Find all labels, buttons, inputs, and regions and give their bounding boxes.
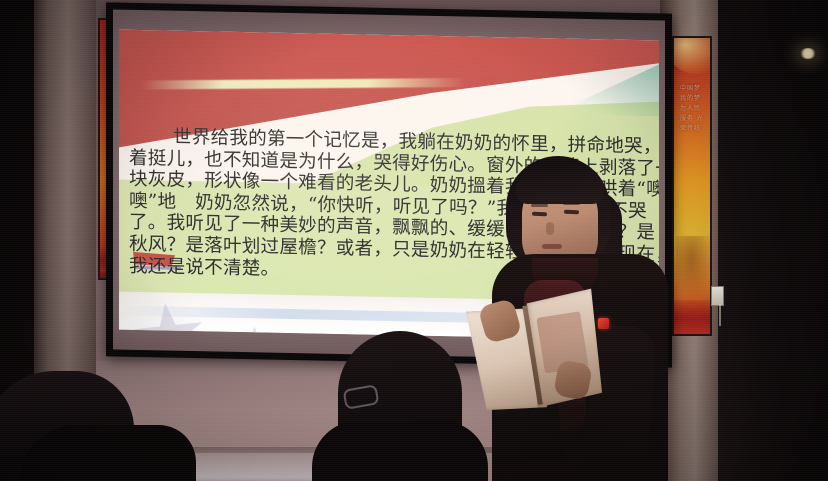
- presenter-eyebrow: [563, 202, 580, 205]
- photo-scene: ☭ 中国梦 我的梦 为人民服务 光荣传统: [0, 0, 828, 481]
- poster-figure-graphic: [676, 236, 710, 298]
- glasses-icon: [343, 384, 380, 410]
- presenter-reading: [470, 150, 680, 481]
- right-dark-wall: [708, 0, 828, 481]
- ceiling-light-icon: [800, 48, 816, 59]
- presenter-nose: [546, 222, 554, 235]
- presenter-eyebrow: [531, 204, 548, 207]
- switch-cord: [719, 304, 721, 326]
- audience-member-left-shoulder: [20, 425, 196, 481]
- presenter-eye: [564, 210, 579, 215]
- light-switch[interactable]: [711, 286, 724, 306]
- presenter-hair-fringe: [516, 164, 604, 204]
- poster-vertical-text: 中国梦 我的梦 为人民服务 光荣传统: [680, 84, 706, 134]
- presenter-mouth: [542, 244, 562, 249]
- audience-shoulders: [312, 421, 488, 481]
- poster-swirl-graphic: [672, 36, 712, 74]
- presenter-eye: [532, 212, 547, 217]
- audience-member-center: [338, 331, 462, 481]
